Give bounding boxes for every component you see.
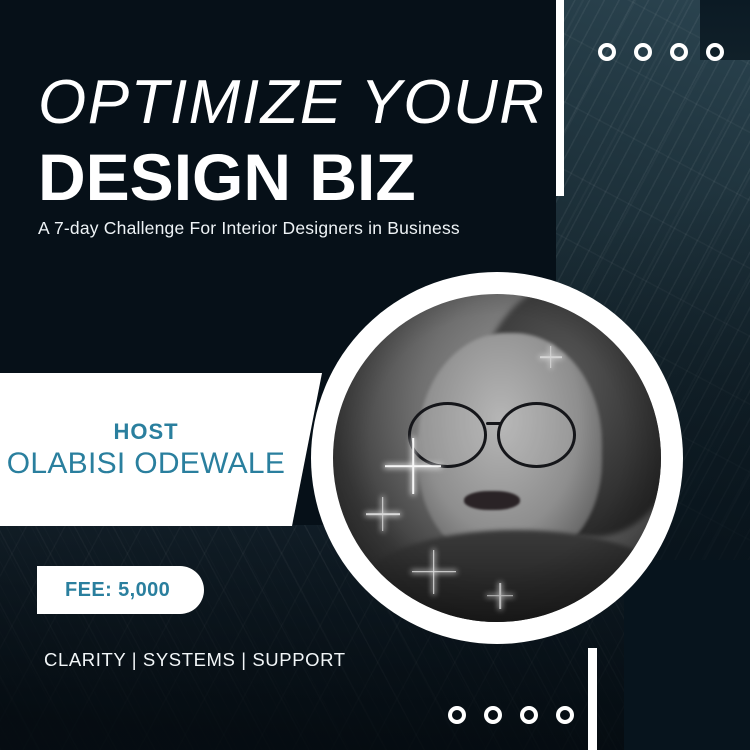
decorative-bar-top-right (556, 0, 564, 196)
subtitle: A 7-day Challenge For Interior Designers… (38, 218, 460, 239)
ring-dot-icon (670, 43, 688, 61)
fee-badge-label: FEE: 5,000 (65, 579, 170, 602)
portrait-vignette (333, 294, 661, 622)
fee-badge: FEE: 5,000 (37, 566, 204, 614)
ring-dot-icon (556, 706, 574, 724)
host-panel: HOST OLABISI ODEWALE (0, 373, 322, 526)
host-panel-content: HOST OLABISI ODEWALE (0, 373, 292, 526)
headline-line-1: OPTIMIZE YOUR (38, 72, 538, 134)
portrait-ring (311, 272, 683, 644)
promotional-flyer: OPTIMIZE YOUR DESIGN BIZ A 7-day Challen… (0, 0, 750, 750)
host-portrait-photo (333, 294, 661, 622)
ring-dot-icon (634, 43, 652, 61)
headline-line-2: DESIGN BIZ (38, 144, 538, 210)
headline-block: OPTIMIZE YOUR DESIGN BIZ (38, 72, 538, 210)
ring-dot-icon (706, 43, 724, 61)
ring-dot-icon (448, 706, 466, 724)
host-name: OLABISI ODEWALE (7, 447, 285, 481)
decorative-dots-bottom (448, 706, 574, 724)
tagline: CLARITY | SYSTEMS | SUPPORT (44, 649, 346, 671)
decorative-bar-bottom-right (588, 648, 597, 750)
ring-dot-icon (520, 706, 538, 724)
decorative-dots-top (598, 43, 724, 61)
ring-dot-icon (598, 43, 616, 61)
host-label: HOST (113, 419, 178, 445)
ring-dot-icon (484, 706, 502, 724)
